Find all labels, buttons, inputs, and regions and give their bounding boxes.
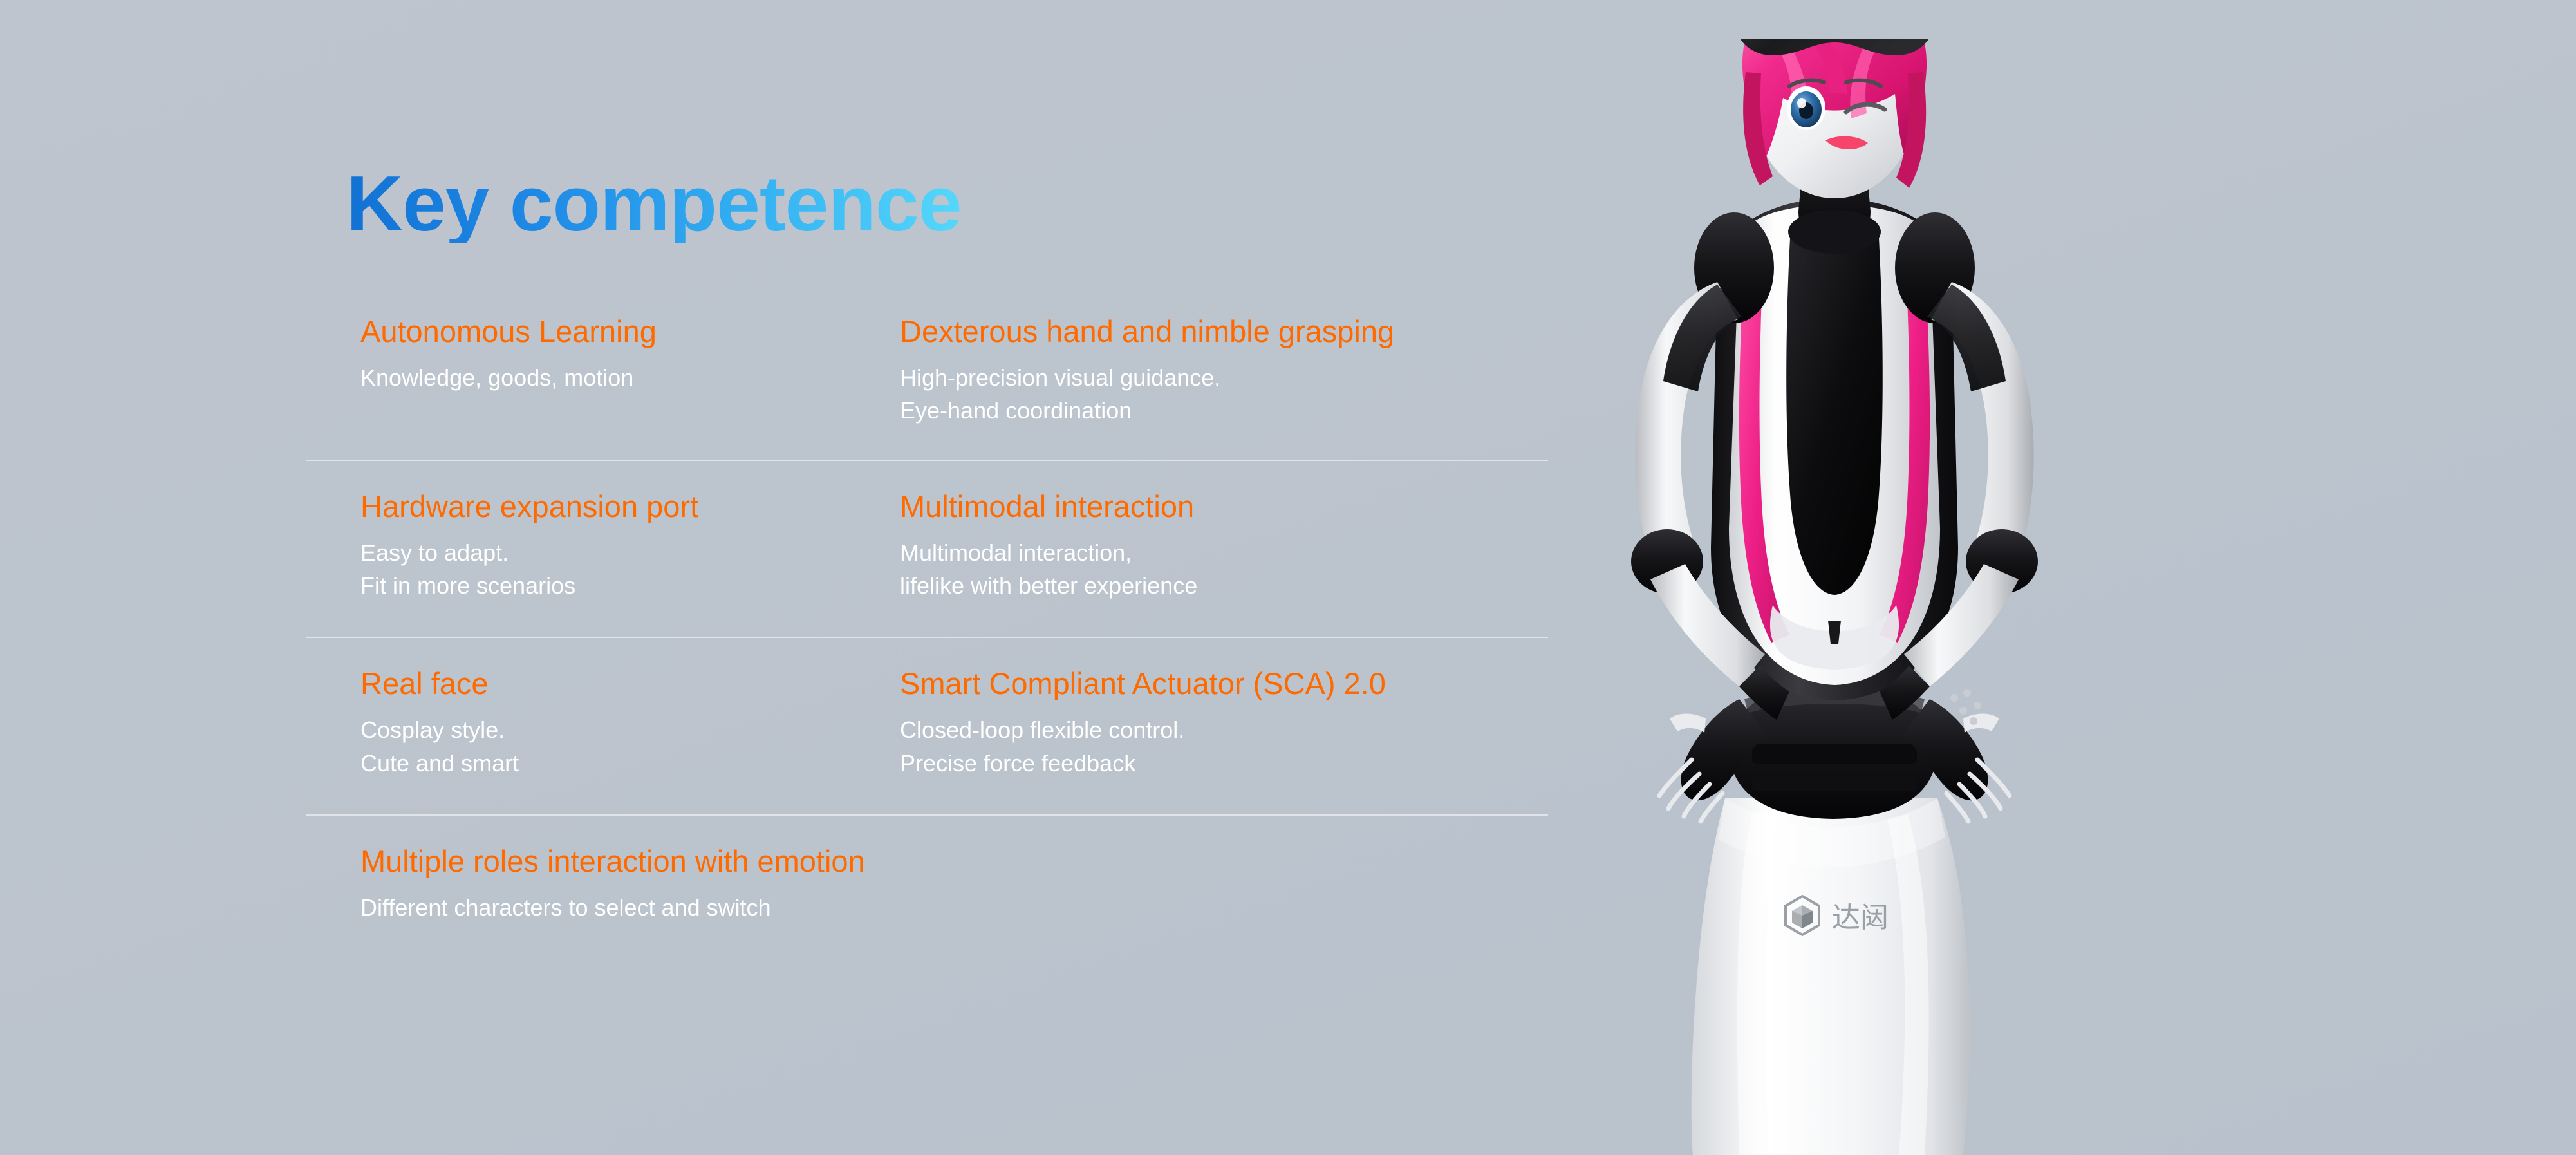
feature-title: Multiple roles interaction with emotion xyxy=(360,845,954,877)
feature-title: Real face xyxy=(360,668,900,699)
feature-description: Knowledge, goods, motion xyxy=(360,361,900,394)
feature-item-autonomous-learning[interactable]: Autonomous Learning Knowledge, goods, mo… xyxy=(360,315,900,427)
row-divider xyxy=(306,814,1548,816)
feature-row: Real face Cosplay style. Cute and smart … xyxy=(360,637,1493,814)
feature-item-multimodal-interaction[interactable]: Multimodal interaction Multimodal intera… xyxy=(900,491,1493,603)
robot-lower-body xyxy=(1692,798,1970,1155)
feature-title: Smart Compliant Actuator (SCA) 2.0 xyxy=(900,668,1493,699)
slide-root: Key competence Autonomous Learning Knowl… xyxy=(0,0,2576,1155)
feature-description: Cosplay style. Cute and smart xyxy=(360,713,900,779)
feature-item-real-face[interactable]: Real face Cosplay style. Cute and smart xyxy=(360,668,900,780)
feature-grid: Autonomous Learning Knowledge, goods, mo… xyxy=(360,315,1493,924)
feature-row: Multiple roles interaction with emotion … xyxy=(360,814,1493,924)
row-divider xyxy=(306,637,1548,638)
feature-item-dexterous-hand[interactable]: Dexterous hand and nimble grasping High-… xyxy=(900,315,1493,427)
feature-title: Autonomous Learning xyxy=(360,315,900,347)
feature-description: High-precision visual guidance. Eye-hand… xyxy=(900,361,1493,427)
feature-title: Hardware expansion port xyxy=(360,491,900,522)
robot-eye-open xyxy=(1787,86,1825,130)
feature-row: Autonomous Learning Knowledge, goods, mo… xyxy=(360,315,1493,460)
robot-illustration: 达闼 xyxy=(1513,39,2156,1155)
feature-title: Dexterous hand and nimble grasping xyxy=(900,315,1493,347)
feature-row: Hardware expansion port Easy to adapt. F… xyxy=(360,460,1493,637)
robot-torso xyxy=(1694,198,1975,700)
feature-title: Multimodal interaction xyxy=(900,491,1493,522)
robot-head xyxy=(1724,39,1945,198)
robot-svg: 达闼 xyxy=(1513,39,2156,1155)
feature-item-multiple-roles-interaction[interactable]: Multiple roles interaction with emotion … xyxy=(360,845,954,924)
feature-description: Multimodal interaction, lifelike with be… xyxy=(900,536,1493,602)
feature-description: Easy to adapt. Fit in more scenarios xyxy=(360,536,900,602)
feature-item-smart-compliant-actuator[interactable]: Smart Compliant Actuator (SCA) 2.0 Close… xyxy=(900,668,1493,780)
feature-item-hardware-expansion-port[interactable]: Hardware expansion port Easy to adapt. F… xyxy=(360,491,900,603)
feature-description: Closed-loop flexible control. Precise fo… xyxy=(900,713,1493,779)
feature-description: Different characters to select and switc… xyxy=(360,891,954,924)
page-title: Key competence xyxy=(346,164,962,243)
row-divider xyxy=(306,460,1548,461)
